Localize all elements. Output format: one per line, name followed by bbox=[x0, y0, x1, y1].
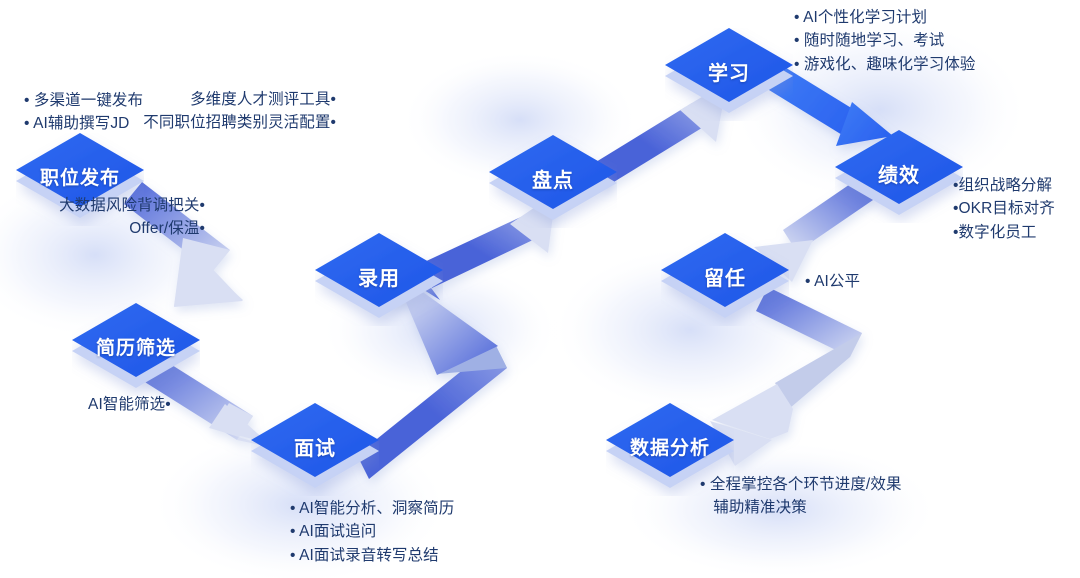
job-posting-note: • 多渠道一键发布• AI辅助撰写JD bbox=[24, 89, 143, 136]
note-line: 多维度人才测评工具• bbox=[143, 88, 336, 111]
note-line: • AI公平 bbox=[805, 270, 860, 293]
hire-note: 大数据风险背调把关•Offer/保温• bbox=[59, 194, 205, 241]
retention-note: • AI公平 bbox=[805, 270, 860, 293]
node-label: 盘点 bbox=[532, 164, 574, 193]
node-label: 录用 bbox=[358, 262, 400, 291]
note-line: • AI面试追问 bbox=[290, 520, 454, 543]
note-line: • 游戏化、趣味化学习体验 bbox=[794, 53, 976, 76]
node-resume-screen[interactable]: 简历筛选 bbox=[72, 303, 200, 396]
note-line: Offer/保温• bbox=[59, 217, 205, 240]
interview-note: • AI智能分析、洞察简历• AI面试追问• AI面试录音转写总结 bbox=[290, 497, 454, 567]
note-line: •数字化员工 bbox=[953, 221, 1055, 244]
node-label: 留任 bbox=[704, 262, 746, 291]
node-label: 绩效 bbox=[878, 159, 920, 188]
node-inventory[interactable]: 盘点 bbox=[489, 135, 617, 228]
note-line: 辅助精准决策 bbox=[700, 496, 902, 519]
note-line: AI智能筛选• bbox=[88, 393, 171, 416]
note-line: • AI智能分析、洞察简历 bbox=[290, 497, 454, 520]
node-label: 数据分析 bbox=[630, 433, 710, 460]
node-learning[interactable]: 学习 bbox=[665, 28, 793, 121]
performance-note: •组织战略分解•OKR目标对齐•数字化员工 bbox=[953, 174, 1055, 244]
note-line: • 全程掌控各个环节进度/效果 bbox=[700, 473, 902, 496]
inventory-note: 多维度人才测评工具•不同职位招聘类别灵活配置• bbox=[143, 88, 336, 135]
note-line: • 随时随地学习、考试 bbox=[794, 29, 976, 52]
node-label: 职位发布 bbox=[40, 163, 120, 190]
node-interview[interactable]: 面试 bbox=[251, 403, 379, 496]
node-performance[interactable]: 绩效 bbox=[835, 130, 963, 223]
note-line: • AI个性化学习计划 bbox=[794, 6, 976, 29]
note-line: • AI面试录音转写总结 bbox=[290, 544, 454, 567]
note-line: • AI辅助撰写JD bbox=[24, 112, 143, 135]
node-label: 学习 bbox=[708, 57, 750, 86]
note-line: •OKR目标对齐 bbox=[953, 197, 1055, 220]
node-label: 面试 bbox=[294, 432, 336, 461]
note-line: •组织战略分解 bbox=[953, 174, 1055, 197]
note-line: 不同职位招聘类别灵活配置• bbox=[143, 111, 336, 134]
diagram-canvas: 职位发布简历筛选面试录用盘点学习绩效留任数据分析• 多渠道一键发布• AI辅助撰… bbox=[0, 0, 1080, 578]
flow-arrows bbox=[0, 0, 1080, 578]
note-line: 大数据风险背调把关• bbox=[59, 194, 205, 217]
resume-screen-note: AI智能筛选• bbox=[88, 393, 171, 416]
node-hire[interactable]: 录用 bbox=[315, 233, 443, 326]
note-line: • 多渠道一键发布 bbox=[24, 89, 143, 112]
analytics-note: • 全程掌控各个环节进度/效果 辅助精准决策 bbox=[700, 473, 902, 520]
node-retention[interactable]: 留任 bbox=[661, 233, 789, 326]
node-label: 简历筛选 bbox=[96, 333, 176, 360]
learning-note: • AI个性化学习计划• 随时随地学习、考试• 游戏化、趣味化学习体验 bbox=[794, 6, 976, 76]
